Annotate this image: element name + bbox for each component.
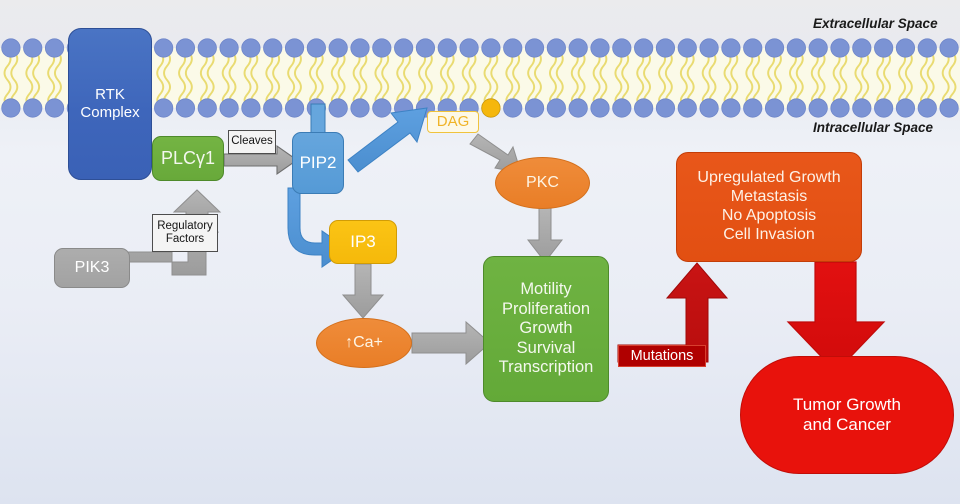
node-plc-gamma-1[interactable]: PLCγ1 bbox=[152, 136, 224, 181]
node-upregulated-growth[interactable]: Upregulated Growth Metastasis No Apoptos… bbox=[676, 152, 862, 262]
node-pip2[interactable]: PIP2 bbox=[292, 132, 344, 194]
label-cleaves: Cleaves bbox=[228, 130, 276, 154]
node-pkc[interactable]: PKC bbox=[495, 157, 590, 209]
arrow-calcium-to-motility bbox=[412, 322, 490, 364]
intracellular-space-label: Intracellular Space bbox=[813, 120, 933, 135]
label-regulatory-factors: Regulatory Factors bbox=[152, 214, 218, 252]
extracellular-space-label: Extracellular Space bbox=[813, 16, 938, 31]
node-calcium[interactable]: ↑Ca+ bbox=[316, 318, 412, 368]
node-dag[interactable]: DAG bbox=[427, 111, 479, 133]
label-mutations: Mutations bbox=[618, 345, 706, 367]
node-tumor-growth[interactable]: Tumor Growth and Cancer bbox=[740, 356, 954, 474]
node-rtk-complex[interactable]: RTK Complex bbox=[68, 28, 152, 180]
arrow-ip3-to-calcium bbox=[343, 264, 383, 318]
dag-lipid-head bbox=[482, 99, 500, 117]
arrow-pkc-to-motility bbox=[528, 208, 562, 262]
node-motility-outcomes[interactable]: Motility Proliferation Growth Survival T… bbox=[483, 256, 609, 402]
pathway-diagram: Extracellular Space Intracellular Space … bbox=[0, 0, 960, 504]
node-pik3[interactable]: PIK3 bbox=[54, 248, 130, 288]
node-ip3[interactable]: IP3 bbox=[329, 220, 397, 264]
